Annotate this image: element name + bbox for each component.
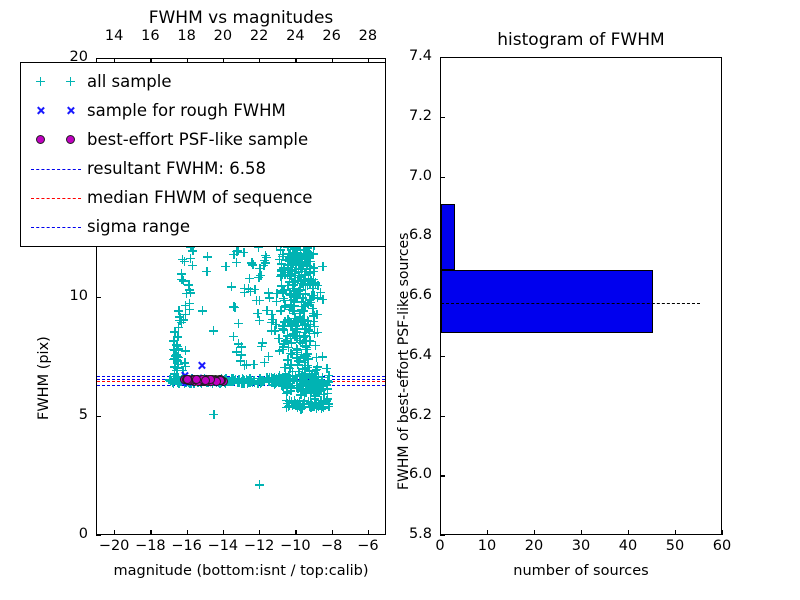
scatter-point-all-sample [286, 265, 295, 274]
scatter-point-all-sample [285, 257, 294, 266]
scatter-point-all-sample [301, 336, 310, 345]
scatter-point-all-sample [285, 277, 294, 286]
scatter-point-all-sample [282, 396, 291, 405]
scatter-point-all-sample [305, 267, 314, 276]
scatter-point-all-sample [288, 281, 297, 290]
scatter-point-all-sample [179, 315, 188, 324]
scatter-point-all-sample [173, 352, 182, 361]
scatter-point-all-sample [297, 271, 306, 280]
scatter-point-all-sample [277, 259, 286, 268]
scatter-point-all-sample [304, 397, 313, 406]
scatter-point-all-sample [302, 254, 311, 263]
scatter-point-all-sample [172, 366, 181, 375]
left-panel-title: FWHM vs magnitudes [96, 8, 386, 28]
scatter-point-all-sample [188, 246, 197, 255]
scatter-point-all-sample [291, 332, 300, 341]
scatter-point-all-sample [242, 360, 251, 369]
scatter-point-all-sample [278, 345, 287, 354]
scatter-point-all-sample [303, 354, 312, 363]
scatter-point-all-sample [283, 260, 292, 269]
scatter-point-all-sample [286, 290, 295, 299]
scatter-point-all-sample [287, 397, 296, 406]
scatter-point-all-sample [305, 295, 314, 304]
scatter-point-all-sample [230, 303, 239, 312]
scatter-point-all-sample [289, 295, 298, 304]
scatter-point-all-sample [174, 306, 183, 315]
scatter-point-all-sample [319, 390, 328, 399]
scatter-point-all-sample [264, 352, 273, 361]
scatter-point-all-sample [300, 396, 309, 405]
scatter-point-all-sample [294, 267, 303, 276]
scatter-point-all-sample [292, 334, 301, 343]
scatter-point-all-sample [170, 327, 179, 336]
scatter-point-all-sample [175, 313, 184, 322]
scatter-point-all-sample [250, 285, 259, 294]
scatter-point-all-sample [301, 351, 310, 360]
scatter-point-all-sample [261, 251, 270, 260]
scatter-point-all-sample [296, 338, 305, 347]
scatter-point-all-sample [323, 389, 332, 398]
scatter-point-all-sample [237, 342, 246, 351]
scatter-point-all-sample [312, 365, 321, 374]
scatter-point-all-sample [302, 382, 311, 391]
scatter-point-all-sample [301, 345, 310, 354]
axis-ticklabel: 0 [32, 526, 88, 542]
scatter-point-all-sample [285, 305, 294, 314]
legend-marker [25, 100, 87, 122]
scatter-point-all-sample [170, 369, 179, 378]
scatter-point-all-sample [317, 385, 326, 394]
axis-tick [96, 535, 101, 536]
scatter-point-all-sample [307, 402, 316, 411]
scatter-point-all-sample [295, 313, 304, 322]
legend-item[interactable]: resultant FWHM: 6.58 [25, 154, 385, 183]
scatter-point-all-sample [259, 261, 268, 270]
scatter-point-all-sample [283, 331, 292, 340]
scatter-point-all-sample [276, 306, 285, 315]
scatter-point-all-sample [290, 297, 299, 306]
scatter-point-all-sample [312, 310, 321, 319]
scatter-point-all-sample [173, 356, 182, 365]
scatter-point-all-sample [279, 325, 288, 334]
scatter-point-all-sample [277, 270, 286, 279]
scatter-point-all-sample [309, 317, 318, 326]
scatter-point-all-sample [261, 258, 270, 267]
scatter-point-all-sample [174, 353, 183, 362]
scatter-point-all-sample [319, 382, 328, 391]
scatter-point-all-sample [277, 267, 286, 276]
scatter-point-all-sample [298, 293, 307, 302]
scatter-point-all-sample [267, 326, 276, 335]
scatter-point-all-sample [313, 328, 322, 337]
scatter-point-all-sample [185, 299, 194, 308]
scatter-point-all-sample [289, 329, 298, 338]
scatter-point-all-sample [292, 327, 301, 336]
scatter-point-all-sample [173, 363, 182, 372]
scatter-point-all-sample [177, 318, 186, 327]
scatter-point-all-sample [318, 295, 327, 304]
scatter-point-all-sample [306, 320, 315, 329]
scatter-point-all-sample [301, 324, 310, 333]
scatter-point-all-sample [316, 288, 325, 297]
scatter-point-all-sample [312, 388, 321, 397]
scatter-point-all-sample [300, 319, 309, 328]
legend-marker [25, 216, 87, 238]
scatter-point-all-sample [298, 321, 307, 330]
legend-item[interactable]: sample for rough FWHM [25, 96, 385, 125]
scatter-point-all-sample [313, 362, 322, 371]
scatter-point-rough-fwhm [197, 361, 206, 370]
scatter-point-all-sample [291, 252, 300, 261]
scatter-point-all-sample [290, 301, 299, 310]
scatter-point-all-sample [245, 274, 254, 283]
scatter-point-all-sample [283, 399, 292, 408]
scatter-point-all-sample [249, 360, 258, 369]
scatter-point-all-sample [285, 289, 294, 298]
scatter-point-all-sample [276, 272, 285, 281]
scatter-point-all-sample [291, 322, 300, 331]
scatter-point-all-sample [171, 351, 180, 360]
scatter-point-all-sample [294, 273, 303, 282]
scatter-point-all-sample [303, 317, 312, 326]
scatter-point-all-sample [295, 370, 304, 379]
legend-dot-icon [36, 135, 45, 144]
scatter-point-all-sample [301, 341, 310, 350]
scatter-point-all-sample [286, 386, 295, 395]
scatter-point-all-sample [309, 402, 318, 411]
scatter-point-all-sample [289, 318, 298, 327]
scatter-point-all-sample [236, 356, 245, 365]
scatter-point-all-sample [302, 267, 311, 276]
scatter-point-all-sample [300, 277, 309, 286]
scatter-point-all-sample [296, 276, 305, 285]
scatter-point-all-sample [293, 257, 302, 266]
scatter-point-all-sample [292, 324, 301, 333]
scatter-point-all-sample [283, 255, 292, 264]
legend-label: best-effort PSF-like sample [87, 130, 308, 149]
scatter-point-all-sample [309, 291, 318, 300]
scatter-point-all-sample [311, 382, 320, 391]
scatter-point-all-sample [262, 253, 271, 262]
scatter-point-all-sample [279, 342, 288, 351]
legend-item[interactable]: best-effort PSF-like sample [25, 125, 385, 154]
scatter-point-all-sample [299, 306, 308, 315]
scatter-point-all-sample [307, 386, 316, 395]
scatter-point-all-sample [296, 285, 305, 294]
scatter-point-all-sample [297, 253, 306, 262]
scatter-point-all-sample [310, 329, 319, 338]
scatter-point-all-sample [313, 310, 322, 319]
scatter-point-all-sample [299, 399, 308, 408]
scatter-point-all-sample [302, 386, 311, 395]
histogram-plot-area [441, 58, 721, 534]
scatter-point-all-sample [295, 285, 304, 294]
legend[interactable]: all samplesample for rough FWHMbest-effo… [20, 62, 386, 247]
legend-marker [25, 71, 87, 93]
scatter-point-all-sample [314, 399, 323, 408]
scatter-point-all-sample [311, 381, 320, 390]
scatter-point-all-sample [285, 271, 294, 280]
scatter-point-all-sample [284, 402, 293, 411]
scatter-point-all-sample [301, 289, 310, 298]
scatter-point-all-sample [311, 341, 320, 350]
scatter-point-all-sample [172, 355, 181, 364]
scatter-point-all-sample [306, 398, 315, 407]
scatter-point-all-sample [296, 405, 305, 414]
scatter-point-all-sample [302, 264, 311, 273]
legend-marker [25, 187, 87, 209]
scatter-point-all-sample [174, 323, 183, 332]
scatter-point-all-sample [304, 354, 313, 363]
scatter-point-all-sample [185, 305, 194, 314]
scatter-point-all-sample [169, 336, 178, 345]
scatter-point-all-sample [283, 355, 292, 364]
legend-item[interactable]: all sample [25, 67, 385, 96]
scatter-point-all-sample [305, 248, 314, 257]
scatter-point-all-sample [295, 356, 304, 365]
scatter-point-all-sample [305, 327, 314, 336]
scatter-point-all-sample [296, 253, 305, 262]
scatter-point-all-sample [309, 311, 318, 320]
scatter-point-all-sample [293, 345, 302, 354]
scatter-point-all-sample [290, 278, 299, 287]
scatter-point-all-sample [311, 280, 320, 289]
scatter-point-all-sample [293, 316, 302, 325]
scatter-point-all-sample [313, 281, 322, 290]
scatter-point-all-sample [288, 280, 297, 289]
scatter-point-all-sample [309, 263, 318, 272]
legend-x-icon [66, 106, 75, 115]
scatter-point-all-sample [305, 252, 314, 261]
scatter-point-all-sample [174, 346, 183, 355]
legend-item[interactable]: sigma range [25, 212, 385, 241]
scatter-point-all-sample [172, 340, 181, 349]
scatter-point-all-sample [260, 256, 269, 265]
scatter-point-all-sample [282, 403, 291, 412]
legend-line-icon [31, 198, 81, 199]
scatter-point-all-sample [293, 360, 302, 369]
scatter-point-all-sample [287, 260, 296, 269]
scatter-point-all-sample [298, 339, 307, 348]
scatter-point-all-sample [304, 325, 313, 334]
scatter-point-all-sample [274, 334, 283, 343]
scatter-point-all-sample [287, 274, 296, 283]
scatter-point-all-sample [290, 399, 299, 408]
scatter-point-all-sample [308, 278, 317, 287]
axis-tick [440, 535, 445, 536]
scatter-point-all-sample [312, 353, 321, 362]
scatter-point-all-sample [175, 316, 184, 325]
scatter-point-all-sample [299, 275, 308, 284]
scatter-point-all-sample [298, 261, 307, 270]
scatter-point-all-sample [306, 276, 315, 285]
scatter-point-all-sample [286, 249, 295, 258]
scatter-point-all-sample [292, 348, 301, 357]
scatter-point-all-sample [304, 251, 313, 260]
scatter-point-all-sample [272, 297, 281, 306]
scatter-point-all-sample [311, 366, 320, 375]
scatter-point-all-sample [291, 291, 300, 300]
scatter-point-all-sample [275, 346, 284, 355]
histogram-axes[interactable] [440, 57, 722, 535]
scatter-point-all-sample [288, 321, 297, 330]
scatter-point-all-sample [283, 387, 292, 396]
scatter-point-all-sample [290, 252, 299, 261]
scatter-point-all-sample [308, 284, 317, 293]
scatter-point-all-sample [292, 344, 301, 353]
scatter-point-all-sample [301, 280, 310, 289]
scatter-point-all-sample [287, 263, 296, 272]
scatter-point-all-sample [295, 313, 304, 322]
scatter-point-all-sample [300, 258, 309, 267]
scatter-point-all-sample [287, 338, 296, 347]
scatter-point-all-sample [310, 394, 319, 403]
scatter-point-all-sample [316, 386, 325, 395]
legend-label: all sample [87, 72, 172, 91]
legend-item[interactable]: median FHWM of sequence [25, 183, 385, 212]
sigma-range-low-line [97, 385, 385, 386]
scatter-point-all-sample [173, 332, 182, 341]
right-panel-title: histogram of FWHM [440, 30, 722, 50]
scatter-point-all-sample [293, 399, 302, 408]
scatter-point-all-sample [169, 355, 178, 364]
scatter-point-all-sample [303, 261, 312, 270]
scatter-point-all-sample [288, 278, 297, 287]
scatter-point-all-sample [310, 369, 319, 378]
scatter-point-all-sample [232, 347, 241, 356]
figure-canvas: FWHM vs magnitudes 1416182022242628 −20−… [0, 0, 800, 600]
scatter-point-all-sample [292, 292, 301, 301]
scatter-point-all-sample [301, 300, 310, 309]
scatter-point-all-sample [314, 402, 323, 411]
scatter-point-all-sample [174, 360, 183, 369]
scatter-point-all-sample [229, 302, 238, 311]
scatter-point-all-sample [291, 401, 300, 410]
scatter-point-all-sample [290, 309, 299, 318]
scatter-point-all-sample [202, 267, 211, 276]
scatter-point-all-sample [246, 287, 255, 296]
scatter-point-all-sample [292, 316, 301, 325]
scatter-point-all-sample [296, 390, 305, 399]
scatter-point-all-sample [311, 391, 320, 400]
scatter-point-all-sample [297, 404, 306, 413]
scatter-point-all-sample [312, 384, 321, 393]
scatter-point-all-sample [290, 307, 299, 316]
scatter-point-all-sample [287, 290, 296, 299]
scatter-point-all-sample [278, 321, 287, 330]
scatter-point-all-sample [306, 275, 315, 284]
scatter-point-all-sample [278, 250, 287, 259]
scatter-point-all-sample [172, 340, 181, 349]
scatter-point-all-sample [304, 274, 313, 283]
scatter-point-all-sample [322, 396, 331, 405]
left-panel-xlabel: magnitude (bottom:isnt / top:calib) [96, 563, 386, 579]
scatter-point-all-sample [303, 316, 312, 325]
histogram-bar [441, 204, 455, 270]
scatter-point-all-sample [286, 360, 295, 369]
legend-plus-icon [36, 77, 45, 86]
scatter-point-all-sample [300, 315, 309, 324]
scatter-point-all-sample [277, 281, 286, 290]
scatter-point-all-sample [302, 352, 311, 361]
legend-dot-icon [66, 135, 75, 144]
scatter-point-all-sample [278, 382, 287, 391]
scatter-point-all-sample [289, 284, 298, 293]
scatter-point-all-sample [318, 381, 327, 390]
axis-ticklabel: 60 [692, 538, 752, 554]
scatter-point-all-sample [302, 343, 311, 352]
scatter-point-all-sample [181, 301, 190, 310]
scatter-point-all-sample [293, 248, 302, 257]
scatter-point-all-sample [280, 296, 289, 305]
scatter-point-all-sample [256, 271, 265, 280]
scatter-point-all-sample [319, 398, 328, 407]
scatter-point-all-sample [301, 325, 310, 334]
scatter-point-all-sample [310, 322, 319, 331]
scatter-point-all-sample [182, 289, 191, 298]
scatter-point-all-sample [289, 306, 298, 315]
scatter-point-all-sample [307, 291, 316, 300]
scatter-point-all-sample [312, 402, 321, 411]
scatter-point-all-sample [306, 269, 315, 278]
scatter-point-all-sample [300, 364, 309, 373]
scatter-point-all-sample [280, 270, 289, 279]
scatter-point-all-sample [295, 336, 304, 345]
scatter-point-all-sample [252, 296, 261, 305]
scatter-point-all-sample [294, 356, 303, 365]
scatter-point-all-sample [279, 263, 288, 272]
scatter-point-all-sample [284, 343, 293, 352]
scatter-point-all-sample [305, 262, 314, 271]
scatter-point-all-sample [303, 349, 312, 358]
scatter-point-all-sample [175, 312, 184, 321]
scatter-point-all-sample [264, 288, 273, 297]
histogram-median-line [441, 303, 700, 304]
scatter-point-all-sample [284, 265, 293, 274]
scatter-point-all-sample [294, 264, 303, 273]
scatter-point-all-sample [285, 396, 294, 405]
scatter-point-all-sample [257, 342, 266, 351]
scatter-point-all-sample [262, 253, 271, 262]
scatter-point-all-sample [319, 397, 328, 406]
scatter-point-all-sample [288, 330, 297, 339]
sigma-range-high-line [97, 376, 385, 377]
scatter-point-all-sample [281, 317, 290, 326]
scatter-point-all-sample [237, 350, 246, 359]
scatter-point-all-sample [295, 312, 304, 321]
scatter-point-all-sample [300, 358, 309, 367]
scatter-point-all-sample [294, 259, 303, 268]
scatter-point-all-sample [198, 306, 207, 315]
scatter-point-all-sample [284, 268, 293, 277]
scatter-point-all-sample [291, 265, 300, 274]
scatter-point-all-sample [305, 253, 314, 262]
scatter-point-all-sample [277, 265, 286, 274]
scatter-point-all-sample [304, 322, 313, 331]
scatter-point-all-sample [296, 354, 305, 363]
median-fhwm-line [97, 381, 385, 382]
scatter-point-all-sample [288, 306, 297, 315]
scatter-point-all-sample [323, 394, 332, 403]
scatter-point-all-sample [298, 364, 307, 373]
scatter-point-all-sample [296, 250, 305, 259]
scatter-point-all-sample [270, 326, 279, 335]
scatter-point-all-sample [296, 387, 305, 396]
scatter-point-all-sample [298, 262, 307, 271]
scatter-point-all-sample [286, 334, 295, 343]
scatter-point-all-sample [285, 401, 294, 410]
scatter-point-all-sample [169, 345, 178, 354]
